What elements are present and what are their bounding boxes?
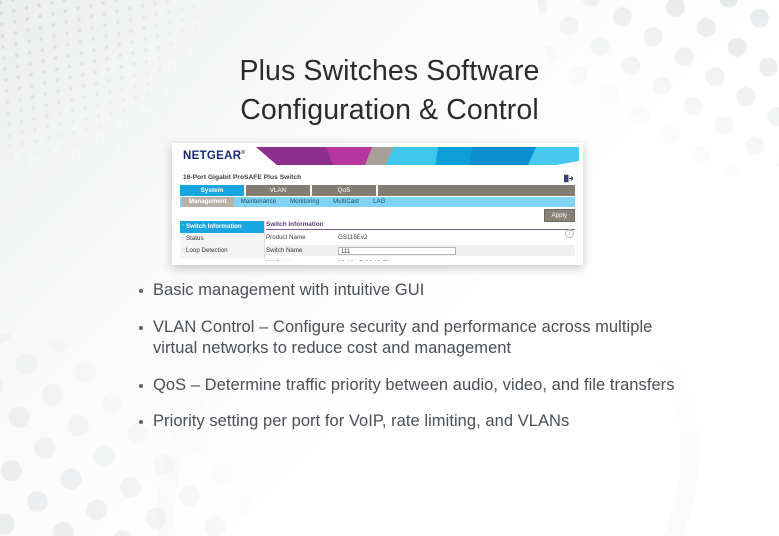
field-row-switch-name: Switch Name 111	[266, 245, 575, 256]
sidenav-item-switch-information[interactable]: Switch Information	[180, 221, 264, 233]
switch-name-input[interactable]: 111	[338, 247, 456, 255]
bullet-item-4: Priority setting per port for VoIP, rate…	[137, 411, 697, 433]
sidenav-item-loop-detection[interactable]: Loop Detection	[180, 245, 264, 257]
tab-bar-filler	[378, 185, 575, 196]
netgear-logo-text: NETGEAR	[183, 150, 241, 162]
slide-title-line-1: Plus Switches Software	[0, 52, 779, 91]
subtab-management[interactable]: Management	[182, 197, 234, 207]
product-screenshot-card: NETGEAR® 16-Port Gigabit ProSAFE Plus Sw…	[172, 143, 583, 265]
feature-bullet-list: Basic management with intuitive GUI VLAN…	[137, 280, 697, 433]
side-navigation: Switch Information Status Loop Detection	[180, 221, 265, 259]
sidenav-item-status[interactable]: Status	[180, 233, 264, 245]
field-label-switch-name: Switch Name	[266, 247, 338, 254]
tab-system[interactable]: System	[180, 185, 244, 196]
field-value-product-name: GS116Ev2	[338, 234, 367, 241]
field-label-product-name: Product Name	[266, 234, 338, 241]
netgear-banner: NETGEAR®	[176, 147, 579, 173]
slide-title: Plus Switches Software Configuration & C…	[0, 52, 779, 130]
netgear-logo: NETGEAR®	[183, 150, 245, 162]
apply-bar: Apply	[180, 208, 575, 220]
field-row-mac-address: MAC Address 00-18-e7-86-16-58	[266, 258, 575, 261]
subtab-maintenance[interactable]: Maintenance	[234, 197, 283, 207]
primary-tab-bar: System VLAN QoS	[180, 185, 575, 196]
slide-title-line-2: Configuration & Control	[0, 91, 779, 130]
switch-web-ui: NETGEAR® 16-Port Gigabit ProSAFE Plus Sw…	[176, 147, 579, 261]
secondary-tab-bar: Management Maintenance Monitoring MultiC…	[180, 197, 575, 207]
field-row-product-name: Product Name GS116Ev2	[266, 232, 575, 243]
bullet-item-2: VLAN Control – Configure security and pe…	[137, 317, 697, 360]
logout-icon[interactable]	[564, 174, 573, 183]
help-icon[interactable]: ?	[565, 229, 574, 238]
panel-title: Switch Information	[266, 221, 575, 230]
bullet-item-3: QoS – Determine traffic priority between…	[137, 375, 697, 397]
netgear-logo-mark: ®	[241, 150, 245, 156]
content-panel: Switch Information ? Product Name GS116E…	[266, 221, 575, 259]
slide-canvas: Plus Switches Software Configuration & C…	[0, 0, 779, 536]
switch-model-label: 16-Port Gigabit ProSAFE Plus Switch	[183, 174, 301, 181]
subtab-monitoring[interactable]: Monitoring	[283, 197, 326, 207]
tab-vlan[interactable]: VLAN	[246, 185, 310, 196]
subtab-lag[interactable]: LAG	[366, 197, 392, 207]
tab-qos[interactable]: QoS	[312, 185, 376, 196]
field-value-mac-address: 00-18-e7-86-16-58	[338, 260, 390, 261]
subtab-multicast[interactable]: MultiCast	[326, 197, 366, 207]
bullet-item-1: Basic management with intuitive GUI	[137, 280, 697, 302]
field-label-mac-address: MAC Address	[266, 260, 338, 261]
